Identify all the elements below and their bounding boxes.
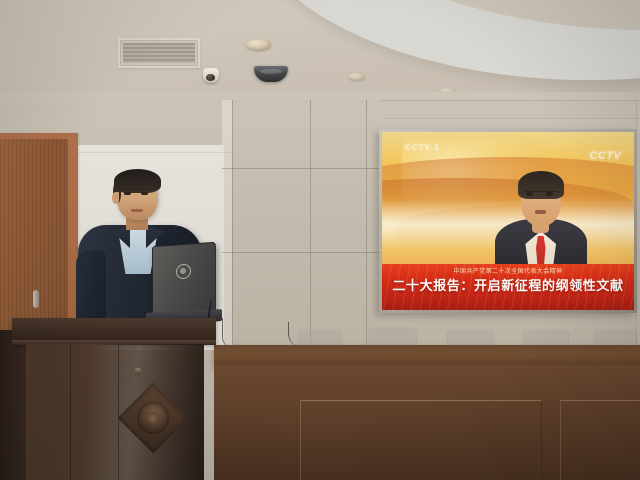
banner-headline: 二十大报告：开启新征程的纲领性文献 [382,275,634,294]
presenter-mouth [131,209,143,212]
wall-panel-seam [222,100,232,350]
air-vent-slats [123,43,195,63]
door[interactable] [0,139,68,348]
wall-panel-line [382,118,640,119]
podium-seam [118,344,119,480]
desk-panel-inset [300,400,542,480]
tv-screen[interactable]: CCTV-1 CCTV 中国共产党第二十次全国代表大会精神 二十大报告：开启新征… [382,132,634,310]
wall-panel-line [74,152,234,153]
podium-knob [135,368,141,375]
wall-panel-line [380,100,640,101]
desk-shadow [214,345,640,355]
wall-panel-line [232,100,233,350]
tv-bezel: CCTV-1 CCTV 中国共产党第二十次全国代表大会精神 二十大报告：开启新征… [379,129,637,313]
wall-panel-line [366,100,367,350]
downlight-icon [348,73,365,80]
downlight-icon [246,39,271,50]
wall-panel-line [222,252,382,253]
broadcast-watermark-logo: CCTV-1 [397,144,447,167]
presenter-eye [124,192,131,195]
door-handle[interactable] [33,290,39,308]
desk-panel-inset [560,400,640,480]
broadcast-lower-third-banner: 中国共产党第二十次全国代表大会精神 二十大报告：开启新征程的纲领性文献 [382,264,634,310]
presenter-eye [141,192,148,195]
cable [222,318,233,348]
camera-lens-icon [206,74,215,81]
anchor-eye [526,192,533,196]
podium-seam [70,344,71,480]
presenter-brow [122,188,150,190]
air-vent-icon [118,38,200,68]
screenshot-root: CCTV-1 CCTV 中国共产党第二十次全国代表大会精神 二十大报告：开启新征… [0,0,640,480]
anchor-mouth [535,210,546,214]
wall-panel-line [222,168,382,169]
presenter-ear [112,192,119,204]
anchor-eye [546,192,553,196]
banner-subtitle: 中国共产党第二十次全国代表大会精神 [382,266,634,275]
wall-panel-line [310,100,311,350]
security-camera-icon [203,68,219,83]
cctv-logo: CCTV [589,150,621,162]
